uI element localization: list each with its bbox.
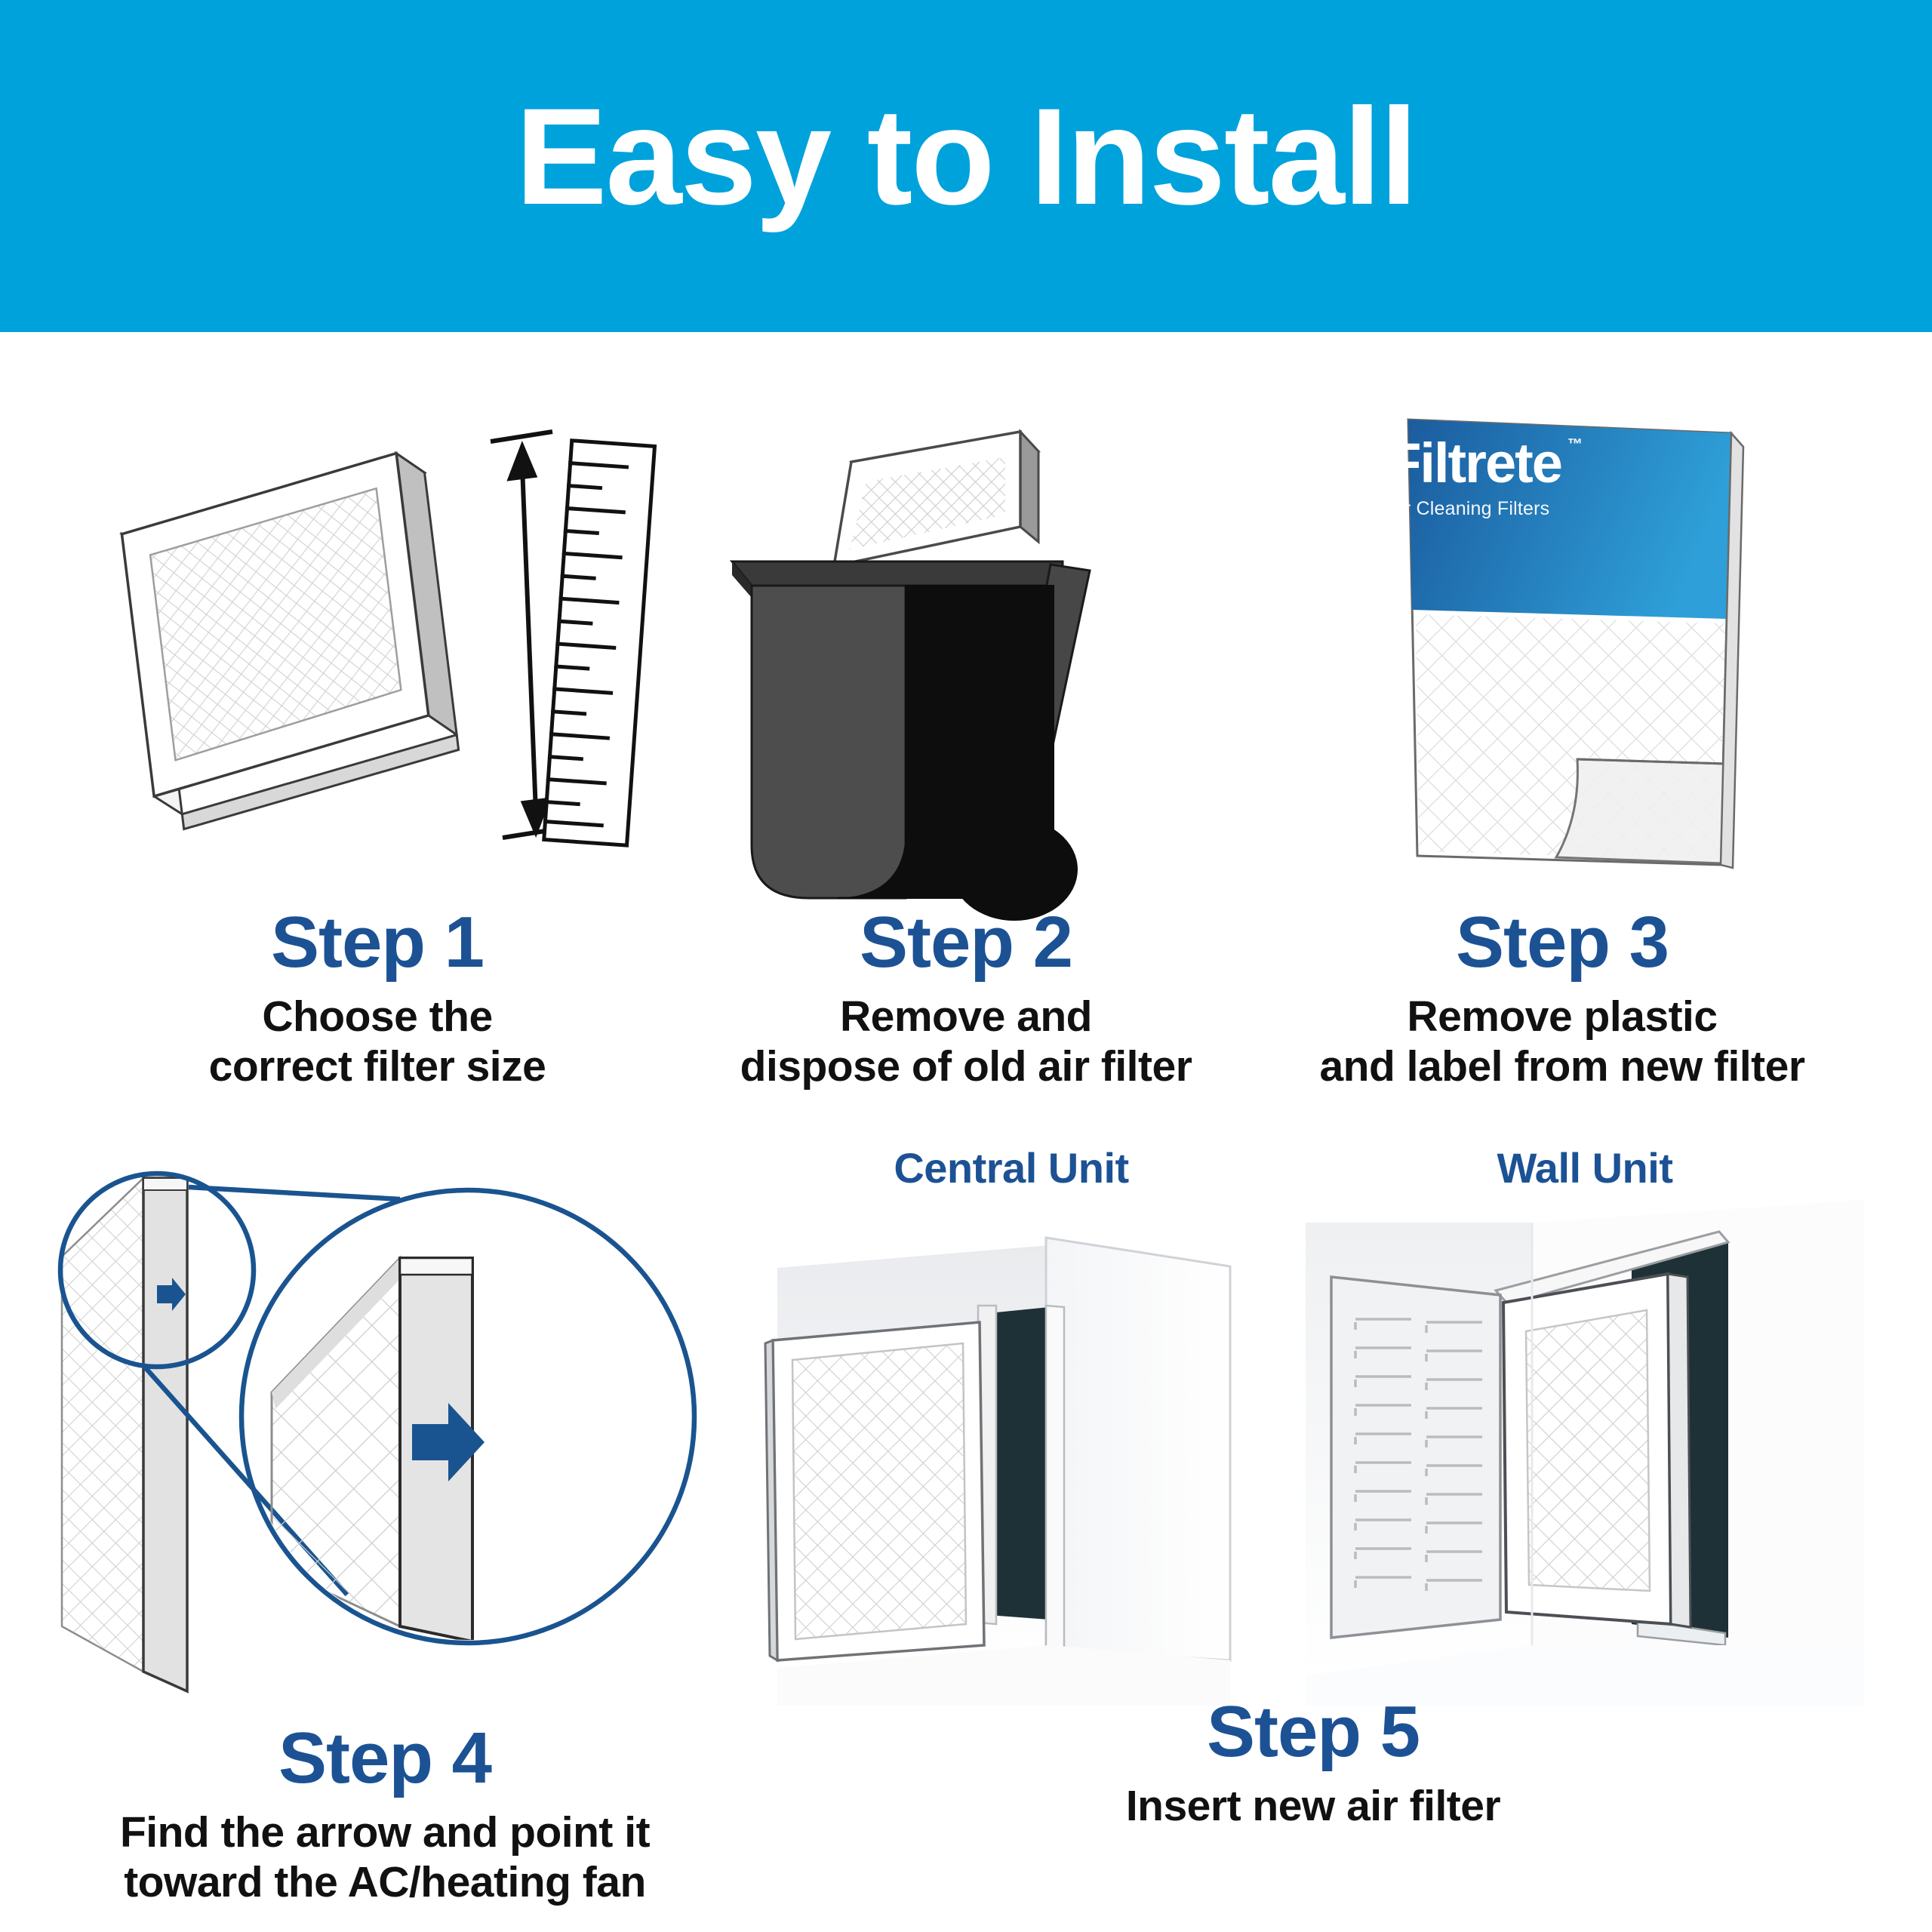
step-1-cell: Step 1 Choose the correct filter size bbox=[91, 377, 664, 1091]
step-3-caption: Step 3 Remove plastic and label from new… bbox=[1275, 906, 1849, 1091]
central-unit-label: Central Unit bbox=[747, 1143, 1275, 1192]
step-4-desc-line-2: toward the AC/heating fan bbox=[45, 1857, 724, 1907]
brand-name: Filtrete ™ bbox=[1387, 435, 1561, 491]
step-2-illustration bbox=[679, 377, 1253, 906]
step-1-title: Step 1 bbox=[91, 906, 664, 980]
page-title: Easy to Install bbox=[515, 88, 1417, 225]
step-3-title: Step 3 bbox=[1275, 906, 1849, 980]
step-1-desc-line-2: correct filter size bbox=[91, 1041, 664, 1091]
step-2-description: Remove and dispose of old air filter bbox=[679, 992, 1253, 1091]
step-3-cell: Filtrete ™ Air Cleaning Filters Step 3 R… bbox=[1275, 377, 1849, 1091]
step-4-description: Find the arrow and point it toward the A… bbox=[45, 1807, 724, 1907]
wall-unit-label: Wall Unit bbox=[1306, 1143, 1864, 1192]
step-1-desc-line-1: Choose the bbox=[91, 992, 664, 1041]
step-4-title: Step 4 bbox=[45, 1721, 724, 1795]
step-4-caption: Step 4 Find the arrow and point it towar… bbox=[45, 1721, 724, 1907]
wall-unit-illustration bbox=[1306, 1192, 1864, 1706]
header-banner: Easy to Install bbox=[0, 0, 1932, 332]
step-4-illustration bbox=[45, 1143, 724, 1717]
step-5-cell: Central Unit bbox=[747, 1143, 1879, 1831]
step-3-illustration: Filtrete ™ Air Cleaning Filters bbox=[1275, 377, 1849, 906]
step-2-desc-line-2: dispose of old air filter bbox=[679, 1041, 1253, 1091]
brand-name-text: Filtrete bbox=[1387, 432, 1561, 494]
step-3-description: Remove plastic and label from new filter bbox=[1275, 992, 1849, 1091]
step-3-desc-line-2: and label from new filter bbox=[1275, 1041, 1849, 1091]
filtrete-logo-block: Filtrete ™ Air Cleaning Filters bbox=[1387, 435, 1561, 520]
step-5-description: Insert new air filter bbox=[747, 1781, 1879, 1831]
trademark-icon: ™ bbox=[1567, 437, 1581, 452]
step-4-cell: Step 4 Find the arrow and point it towar… bbox=[45, 1143, 724, 1907]
step-1-description: Choose the correct filter size bbox=[91, 992, 664, 1091]
step-1-illustration bbox=[91, 377, 664, 906]
step-3-desc-line-1: Remove plastic bbox=[1275, 992, 1849, 1041]
step-2-cell: Step 2 Remove and dispose of old air fil… bbox=[679, 377, 1253, 1091]
brand-tagline: Air Cleaning Filters bbox=[1387, 498, 1561, 520]
central-unit-illustration bbox=[747, 1192, 1275, 1706]
step-5-title: Step 5 bbox=[747, 1695, 1879, 1769]
step-1-caption: Step 1 Choose the correct filter size bbox=[91, 906, 664, 1091]
step-2-desc-line-1: Remove and bbox=[679, 992, 1253, 1041]
step-2-caption: Step 2 Remove and dispose of old air fil… bbox=[679, 906, 1253, 1091]
infographic-page: Easy to Install bbox=[0, 0, 1932, 1932]
step-4-desc-line-1: Find the arrow and point it bbox=[45, 1807, 724, 1857]
step-5-desc-line-1: Insert new air filter bbox=[747, 1781, 1879, 1831]
step-5-caption: Step 5 Insert new air filter bbox=[747, 1695, 1879, 1831]
steps-grid: Step 1 Choose the correct filter size bbox=[0, 332, 1932, 1932]
step-2-title: Step 2 bbox=[679, 906, 1253, 980]
